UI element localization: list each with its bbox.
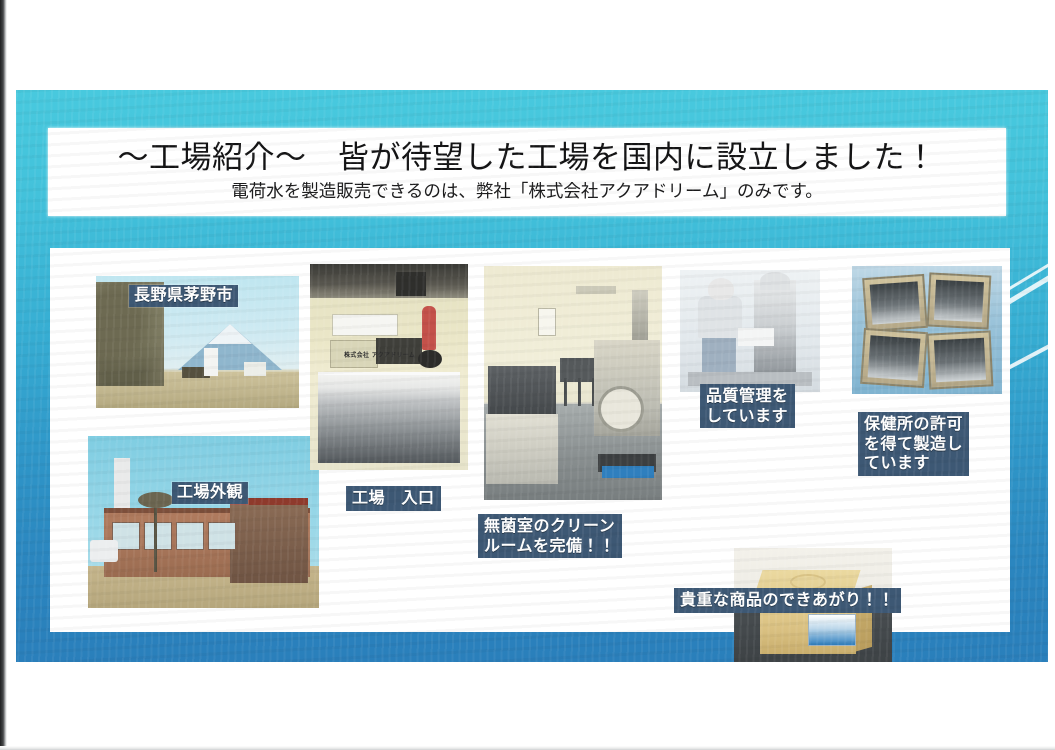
company-sign-text: 株式会社 アクアドリーム <box>344 350 415 359</box>
ceiling-vent-shape <box>396 272 426 296</box>
scan-edge-left <box>0 0 7 750</box>
photo-factory-entrance: 株式会社 アクアドリーム <box>310 264 468 470</box>
building-shape <box>244 362 266 376</box>
vertical-pipe-shape <box>632 290 648 346</box>
box-contents-shape <box>934 338 986 383</box>
product-tray-shape <box>738 328 774 346</box>
box-contents-shape <box>934 280 984 322</box>
open-box-shape <box>927 330 994 389</box>
open-box-shape <box>862 274 928 332</box>
caption-factory-entrance: 工場 入口 <box>346 486 441 511</box>
scan-edge-bottom <box>0 746 1055 750</box>
photo-factory-exterior: 工場外観 <box>88 436 319 608</box>
open-box-shape <box>927 272 992 329</box>
caption-finished-product: 貴重な商品のできあがり！！ <box>674 588 901 613</box>
photo-quality-control <box>680 270 820 392</box>
tree-trunk-shape <box>154 498 157 572</box>
slide-canvas: 〜工場紹介〜 皆が待望した工場を国内に設立しました！ 電荷水を製造販売できるのは… <box>16 90 1048 662</box>
photo-landscape-chino: 長野県茅野市 <box>96 276 299 408</box>
shelf-shape <box>332 314 398 336</box>
mountain-snowcap-shape <box>208 324 252 344</box>
wall-panel-shape <box>538 308 556 336</box>
wall-fixture-shape <box>418 350 442 368</box>
window-shape <box>208 522 236 550</box>
blue-container-shape <box>602 466 654 478</box>
machine-drum-shape <box>598 386 644 432</box>
photo-packed-boxes <box>852 266 1002 394</box>
ceiling-shape <box>310 264 468 298</box>
tree-canopy-shape <box>138 492 174 508</box>
slide-subheadline: 電荷水を製造販売できるのは、弊社「株式会社アクアドリーム」のみです。 <box>48 178 1006 203</box>
annex-building-shape <box>230 498 308 583</box>
sink-base-shape <box>486 414 558 484</box>
header-band: 〜工場紹介〜 皆が待望した工場を国内に設立しました！ 電荷水を製造販売できるのは… <box>48 128 1006 216</box>
wall-figure-shape <box>422 306 436 350</box>
caption-health-permit: 保健所の許可 を得て製造し ています <box>858 412 969 476</box>
caption-quality-control: 品質管理を しています <box>700 384 795 428</box>
reception-counter-shape <box>318 372 460 463</box>
photo-grid-panel: 長野県茅野市 工場外観 <box>50 248 1010 632</box>
scanned-page: 〜工場紹介〜 皆が待望した工場を国内に設立しました！ 電荷水を製造販売できるのは… <box>0 0 1055 750</box>
caption-clean-room: 無菌室のクリーン ルームを完備！！ <box>478 514 622 558</box>
window-shape <box>176 522 204 550</box>
caption-factory-exterior: 工場外観 <box>172 482 248 504</box>
slide-headline: 〜工場紹介〜 皆が待望した工場を国内に設立しました！ <box>48 132 1006 177</box>
window-shape <box>144 522 172 550</box>
box-contents-shape <box>868 335 921 380</box>
open-box-shape <box>860 328 928 388</box>
parked-car-shape <box>90 540 118 562</box>
air-conditioner-shape <box>576 286 616 294</box>
caption-landscape: 長野県茅野市 <box>129 285 238 307</box>
machine-head-shape <box>760 272 790 290</box>
product-label <box>808 614 856 646</box>
worker-head-shape <box>708 278 734 300</box>
box-contents-shape <box>870 281 921 324</box>
photo-clean-room <box>484 266 662 500</box>
silo-shape <box>204 348 218 376</box>
worker-body-shape <box>698 296 742 338</box>
